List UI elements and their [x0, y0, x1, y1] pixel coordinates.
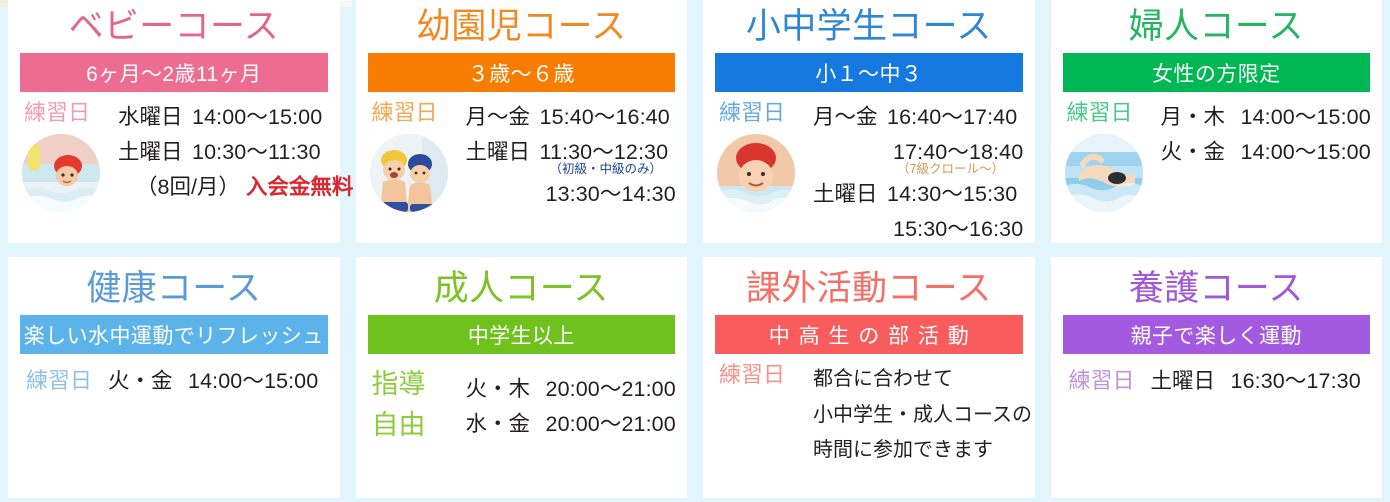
- two-boys-swim-caps-photo: [370, 134, 448, 212]
- course-title: 婦人コース: [1051, 0, 1383, 44]
- schedule-time: 14:30〜15:30: [887, 177, 1017, 212]
- schedule-row: 月〜金 16:40〜17:40: [813, 100, 1025, 135]
- schedule-row: 月・木 14:00〜15:00: [1161, 100, 1373, 135]
- course-cell-nursing: 養護コース 親子で楽しく運動 練習日 土曜日 16:30〜17:30: [1043, 251, 1390, 502]
- schedule-day: 水・金: [466, 407, 546, 442]
- session-count: （8回/月）: [136, 175, 240, 199]
- course-body: 練習日: [356, 100, 688, 212]
- schedule-row: 水・金 20:00〜21:00: [466, 407, 678, 442]
- schedule-time: 20:00〜21:00: [546, 407, 676, 442]
- schedule-day: 月〜金: [466, 100, 540, 135]
- course-title: 健康コース: [8, 257, 340, 306]
- practice-day-label: 練習日: [20, 100, 116, 126]
- course-label-column: 練習日: [20, 100, 116, 192]
- schedule-day: 土曜日: [466, 135, 540, 170]
- schedule-row: 火・金 14:00〜15:00: [1161, 135, 1373, 170]
- description-lines: 都合に合わせて 小中学生・成人コースの 時間に参加できます: [811, 362, 1032, 469]
- course-card-adult[interactable]: 成人コース 中学生以上 指導 自由 火・木 20:00〜21:00 水・金: [356, 257, 688, 498]
- course-cell-adult: 成人コース 中学生以上 指導 自由 火・木 20:00〜21:00 水・金: [348, 251, 696, 502]
- schedule-day: 水曜日: [118, 100, 192, 135]
- free-admission-badge: 入会金無料: [246, 175, 354, 199]
- schedule-rows: 月〜金 15:40〜16:40 土曜日 11:30〜12:30 （初級・中級のみ…: [464, 100, 678, 212]
- course-label-column: 指導 自由: [368, 362, 464, 454]
- schedule-rows: 水曜日 14:00〜15:00 土曜日 10:30〜11:30 （8回/月） 入…: [116, 100, 353, 205]
- course-title: 幼園児コース: [356, 0, 688, 44]
- instruction-label: 指導: [368, 364, 464, 405]
- schedule-day: 火・金: [108, 364, 188, 399]
- course-body: 指導 自由 火・木 20:00〜21:00 水・金 20:00〜21:00: [356, 362, 688, 454]
- schedule-extra-row: （8回/月） 入会金無料: [118, 170, 353, 205]
- course-cell-health: 健康コース 楽しい水中運動でリフレッシュ 練習日 火・金 14:00〜15:00: [0, 251, 348, 502]
- course-title: 課外活動コース: [703, 257, 1035, 306]
- schedule-day: 月〜金: [813, 100, 887, 135]
- schedule-day: 火・木: [466, 372, 546, 407]
- course-age-band: 親子で楽しく運動: [1063, 315, 1371, 354]
- schedule-time: 15:30〜16:30: [893, 212, 1023, 247]
- schedule-rows: 月〜金 16:40〜17:40 17:40〜18:40 （7級クロール〜） 土曜…: [811, 100, 1025, 247]
- course-age-band: 小１〜中３: [715, 53, 1023, 92]
- practice-day-label: 練習日: [1069, 368, 1135, 394]
- course-card-nursing[interactable]: 養護コース 親子で楽しく運動 練習日 土曜日 16:30〜17:30: [1051, 257, 1383, 498]
- schedule-row: 火・金 14:00〜15:00: [108, 364, 318, 399]
- schedule-row: 土曜日 10:30〜11:30: [118, 135, 353, 170]
- course-title: 成人コース: [356, 257, 688, 306]
- course-cell-elementary-junior: 小中学生コース 小１〜中３ 練習日: [695, 0, 1043, 251]
- course-body: 練習日: [1051, 100, 1383, 192]
- course-body: 練習日: [8, 100, 340, 205]
- course-body: 練習日 土曜日 16:30〜17:30: [1051, 364, 1383, 399]
- schedule-time: 14:00〜15:00: [1241, 135, 1371, 170]
- practice-day-label: 練習日: [26, 368, 92, 394]
- description-line: 小中学生・成人コースの: [813, 398, 1032, 434]
- schedule-time: 14:00〜15:00: [188, 364, 318, 399]
- girl-red-cap-photo: [717, 134, 795, 212]
- course-card-women[interactable]: 婦人コース 女性の方限定 練習日: [1051, 0, 1383, 243]
- course-card-elementary-junior[interactable]: 小中学生コース 小１〜中３ 練習日: [703, 0, 1035, 243]
- schedule-time: 16:30〜17:30: [1231, 364, 1361, 399]
- course-age-band: 中学生以上: [368, 315, 676, 354]
- course-cell-kindergarten: 幼園児コース ３歳〜６歳 練習日: [348, 0, 696, 251]
- schedule-time: 16:40〜17:40: [887, 100, 1017, 135]
- course-card-extracurricular[interactable]: 課外活動コース 中高生の部活動 練習日 都合に合わせて 小中学生・成人コースの …: [703, 257, 1035, 498]
- schedule-row: 水曜日 14:00〜15:00: [118, 100, 353, 135]
- course-label-column: 練習日: [368, 100, 464, 192]
- course-cell-women: 婦人コース 女性の方限定 練習日: [1043, 0, 1390, 251]
- schedule-row: 土曜日 14:30〜15:30: [813, 177, 1025, 212]
- schedule-day: 土曜日: [118, 135, 192, 170]
- schedule-rows: 月・木 14:00〜15:00 火・金 14:00〜15:00: [1159, 100, 1373, 170]
- schedule-note: （7級クロール〜）: [813, 163, 1025, 176]
- schedule-time: 14:00〜15:00: [1241, 100, 1371, 135]
- course-title: 養護コース: [1051, 257, 1383, 306]
- course-cell-baby: ベビーコース 6ヶ月〜2歳11ヶ月 練習日: [0, 0, 348, 251]
- schedule-time: 15:40〜16:40: [540, 100, 670, 135]
- practice-day-label: 練習日: [715, 100, 811, 126]
- course-age-band: 楽しい水中運動でリフレッシュ: [20, 315, 328, 354]
- course-age-band: 女性の方限定: [1063, 53, 1371, 92]
- course-card-kindergarten[interactable]: 幼園児コース ３歳〜６歳 練習日: [356, 0, 688, 243]
- practice-day-label: 練習日: [368, 100, 464, 126]
- schedule-row: 土曜日 16:30〜17:30: [1151, 364, 1361, 399]
- schedule-time: 20:00〜21:00: [546, 372, 676, 407]
- schedule-rows: 火・木 20:00〜21:00 水・金 20:00〜21:00: [464, 362, 678, 442]
- schedule-time: 10:30〜11:30: [192, 135, 321, 170]
- schedule-row: 月〜金 15:40〜16:40: [466, 100, 678, 135]
- course-age-band: 中高生の部活動: [715, 315, 1023, 354]
- course-age-band: 6ヶ月〜2歳11ヶ月: [20, 53, 328, 92]
- schedule-day: 土曜日: [1151, 364, 1231, 399]
- schedule-row: 15:30〜16:30: [813, 212, 1025, 247]
- practice-day-label: 練習日: [1063, 100, 1159, 126]
- course-cell-extracurricular: 課外活動コース 中高生の部活動 練習日 都合に合わせて 小中学生・成人コースの …: [695, 251, 1043, 502]
- course-body: 練習日 火・金 14:00〜15:00: [8, 364, 340, 399]
- schedule-row: 13:30〜14:30: [466, 177, 678, 212]
- course-label-column: 練習日: [715, 100, 811, 192]
- course-card-grid: ベビーコース 6ヶ月〜2歳11ヶ月 練習日: [0, 0, 1390, 502]
- course-card-baby[interactable]: ベビーコース 6ヶ月〜2歳11ヶ月 練習日: [8, 0, 340, 243]
- baby-swimmer-red-cap-photo: [22, 134, 100, 212]
- course-label-column: 練習日: [715, 362, 811, 388]
- course-body: 練習日 都合に合わせて 小中学生・成人コースの 時間に参加できます: [703, 362, 1035, 469]
- course-schedule-board: ベビーコース 6ヶ月〜2歳11ヶ月 練習日: [0, 0, 1390, 502]
- schedule-time: 13:30〜14:30: [546, 177, 676, 212]
- course-card-health[interactable]: 健康コース 楽しい水中運動でリフレッシュ 練習日 火・金 14:00〜15:00: [8, 257, 340, 498]
- schedule-day: 土曜日: [813, 177, 887, 212]
- schedule-time: 14:00〜15:00: [192, 100, 322, 135]
- freestyle-swimmer-photo: [1065, 134, 1143, 212]
- course-age-band: ３歳〜６歳: [368, 53, 676, 92]
- schedule-day: 月・木: [1161, 100, 1241, 135]
- course-body: 練習日: [703, 100, 1035, 247]
- course-title: 小中学生コース: [703, 0, 1035, 44]
- schedule-row: 火・木 20:00〜21:00: [466, 372, 678, 407]
- free-swim-label: 自由: [368, 405, 464, 446]
- course-title: ベビーコース: [8, 0, 340, 44]
- schedule-day: 火・金: [1161, 135, 1241, 170]
- description-line: 時間に参加できます: [813, 433, 1032, 469]
- practice-day-label: 練習日: [715, 362, 811, 388]
- description-line: 都合に合わせて: [813, 362, 1032, 398]
- course-label-column: 練習日: [1063, 100, 1159, 192]
